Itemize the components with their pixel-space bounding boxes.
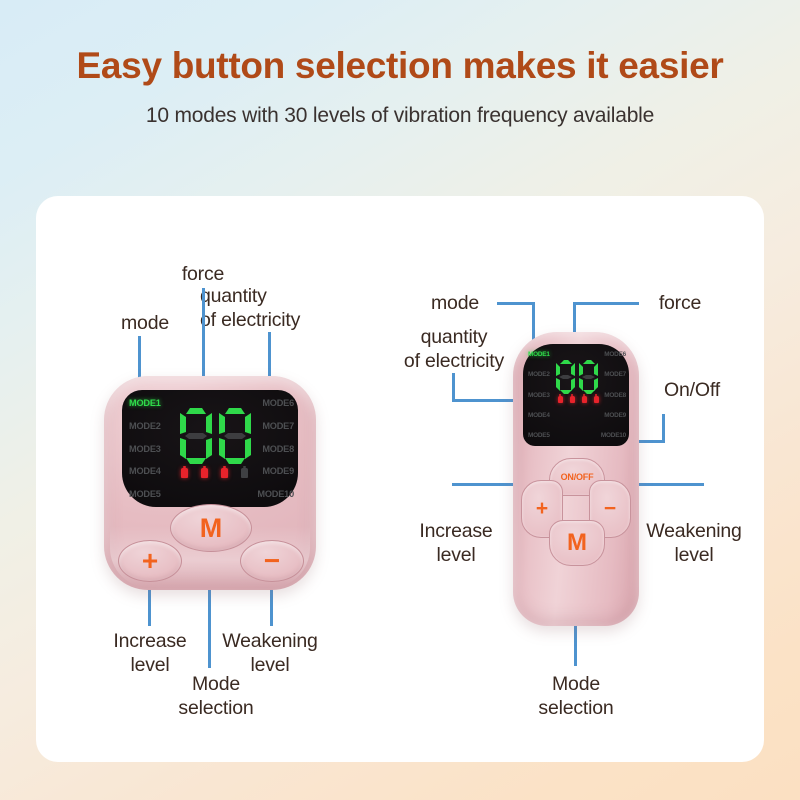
callout-right-force: force — [638, 291, 722, 315]
segment-d — [186, 458, 206, 464]
segment-b — [571, 363, 575, 376]
lcd-mode-item: MODE10 — [242, 489, 294, 499]
segment-e — [219, 438, 225, 459]
product-infographic-page: Easy button selection makes it easier 10… — [0, 0, 800, 800]
lcd-mode-item: MODE9 — [592, 412, 626, 419]
lcd-mode-item: MODE5 — [528, 432, 562, 439]
page-title: Easy button selection makes it easier — [0, 0, 800, 90]
segment-g — [224, 433, 246, 439]
segment-a — [583, 360, 595, 364]
segment-c — [206, 438, 212, 459]
callout-right-weakening-level: Weakening level — [630, 519, 758, 567]
lcd-mode-item: MODE6 — [592, 351, 626, 358]
increase-level-button[interactable]: + — [118, 540, 182, 582]
segment-d — [560, 390, 572, 394]
seven-segment-digit — [579, 360, 598, 394]
segment-g — [582, 375, 595, 379]
battery-icon — [594, 396, 599, 403]
lcd-screen: MODE1 MODE2 MODE3 MODE4 MODE5 MODE6 MODE… — [122, 390, 298, 507]
lcd-mode-item: MODE5 — [129, 489, 181, 499]
callout-right-on-off: On/Off — [648, 378, 736, 402]
callout-right-mode-selection: Mode selection — [516, 672, 636, 720]
battery-icon — [241, 468, 248, 478]
segment-b — [594, 363, 598, 376]
callout-left-weakening-level: Weakening level — [206, 629, 334, 677]
battery-icon — [221, 468, 228, 478]
seven-segment-digit — [556, 360, 575, 394]
segment-g — [185, 433, 207, 439]
lcd-mode-item: MODE1 — [129, 398, 181, 408]
segment-c — [245, 438, 251, 459]
segment-f — [556, 363, 560, 376]
callout-left-mode: mode — [104, 311, 186, 335]
battery-icon — [201, 468, 208, 478]
segment-b — [206, 413, 212, 434]
battery-icon — [582, 396, 587, 403]
lcd-mode-item: MODE4 — [528, 412, 562, 419]
segment-a — [560, 360, 572, 364]
segment-f — [180, 413, 186, 434]
lcd-digit-display — [180, 408, 251, 464]
lcd-battery-indicators — [181, 468, 248, 478]
lcd-battery-indicators — [558, 396, 599, 403]
seven-segment-digit — [180, 408, 212, 464]
connector-right-force-h — [573, 302, 639, 305]
device-square-unit: MODE1 MODE2 MODE3 MODE4 MODE5 MODE6 MODE… — [104, 376, 316, 608]
segment-d — [583, 390, 595, 394]
battery-icon — [558, 396, 563, 403]
segment-c — [594, 378, 598, 391]
callout-right-quantity: quantity of electricity — [378, 325, 530, 373]
segment-a — [225, 408, 245, 414]
connector-right-mode-h — [497, 302, 535, 305]
lcd-mode-item: MODE4 — [129, 466, 181, 476]
callout-left-mode-selection: Mode selection — [158, 672, 274, 720]
mode-button[interactable]: M — [170, 504, 252, 552]
segment-f — [579, 363, 583, 376]
lcd-digit-display — [556, 360, 598, 394]
device-remote-unit: MODE1 MODE2 MODE3 MODE4 MODE5 MODE6 MODE… — [513, 332, 639, 626]
segment-a — [186, 408, 206, 414]
segment-e — [556, 378, 560, 391]
segment-e — [579, 378, 583, 391]
segment-d — [225, 458, 245, 464]
segment-f — [219, 413, 225, 434]
page-subtitle: 10 modes with 30 levels of vibration fre… — [0, 90, 800, 130]
decrease-level-button[interactable]: − — [240, 540, 304, 582]
segment-g — [559, 375, 572, 379]
callout-left-force: force — [158, 262, 248, 286]
callout-left-quantity: quantity of electricity — [200, 284, 348, 332]
battery-icon — [570, 396, 575, 403]
seven-segment-digit — [219, 408, 251, 464]
segment-b — [245, 413, 251, 434]
callout-left-increase-level: Increase level — [92, 629, 208, 677]
lcd-mode-item: MODE2 — [129, 421, 181, 431]
lcd-mode-item: MODE6 — [242, 398, 294, 408]
lcd-mode-item: MODE3 — [129, 444, 181, 454]
connector-right-on-off-v — [662, 414, 665, 442]
segment-e — [180, 438, 186, 459]
callout-right-mode: mode — [413, 291, 497, 315]
lcd-screen: MODE1 MODE2 MODE3 MODE4 MODE5 MODE6 MODE… — [523, 344, 629, 446]
connector-right-quantity-v — [452, 373, 455, 401]
callout-right-increase-level: Increase level — [396, 519, 516, 567]
lcd-mode-item: MODE9 — [242, 466, 294, 476]
battery-icon — [181, 468, 188, 478]
connector-right-weakening — [628, 483, 704, 486]
button-cluster: ON/OFF + − M — [521, 458, 631, 564]
header: Easy button selection makes it easier 10… — [0, 0, 800, 130]
lcd-mode-item: MODE1 — [528, 351, 562, 358]
mode-button[interactable]: M — [549, 520, 605, 566]
lcd-mode-item: MODE10 — [592, 432, 626, 439]
segment-c — [571, 378, 575, 391]
lcd-mode-column-left: MODE1 MODE2 MODE3 MODE4 MODE5 — [129, 398, 181, 499]
